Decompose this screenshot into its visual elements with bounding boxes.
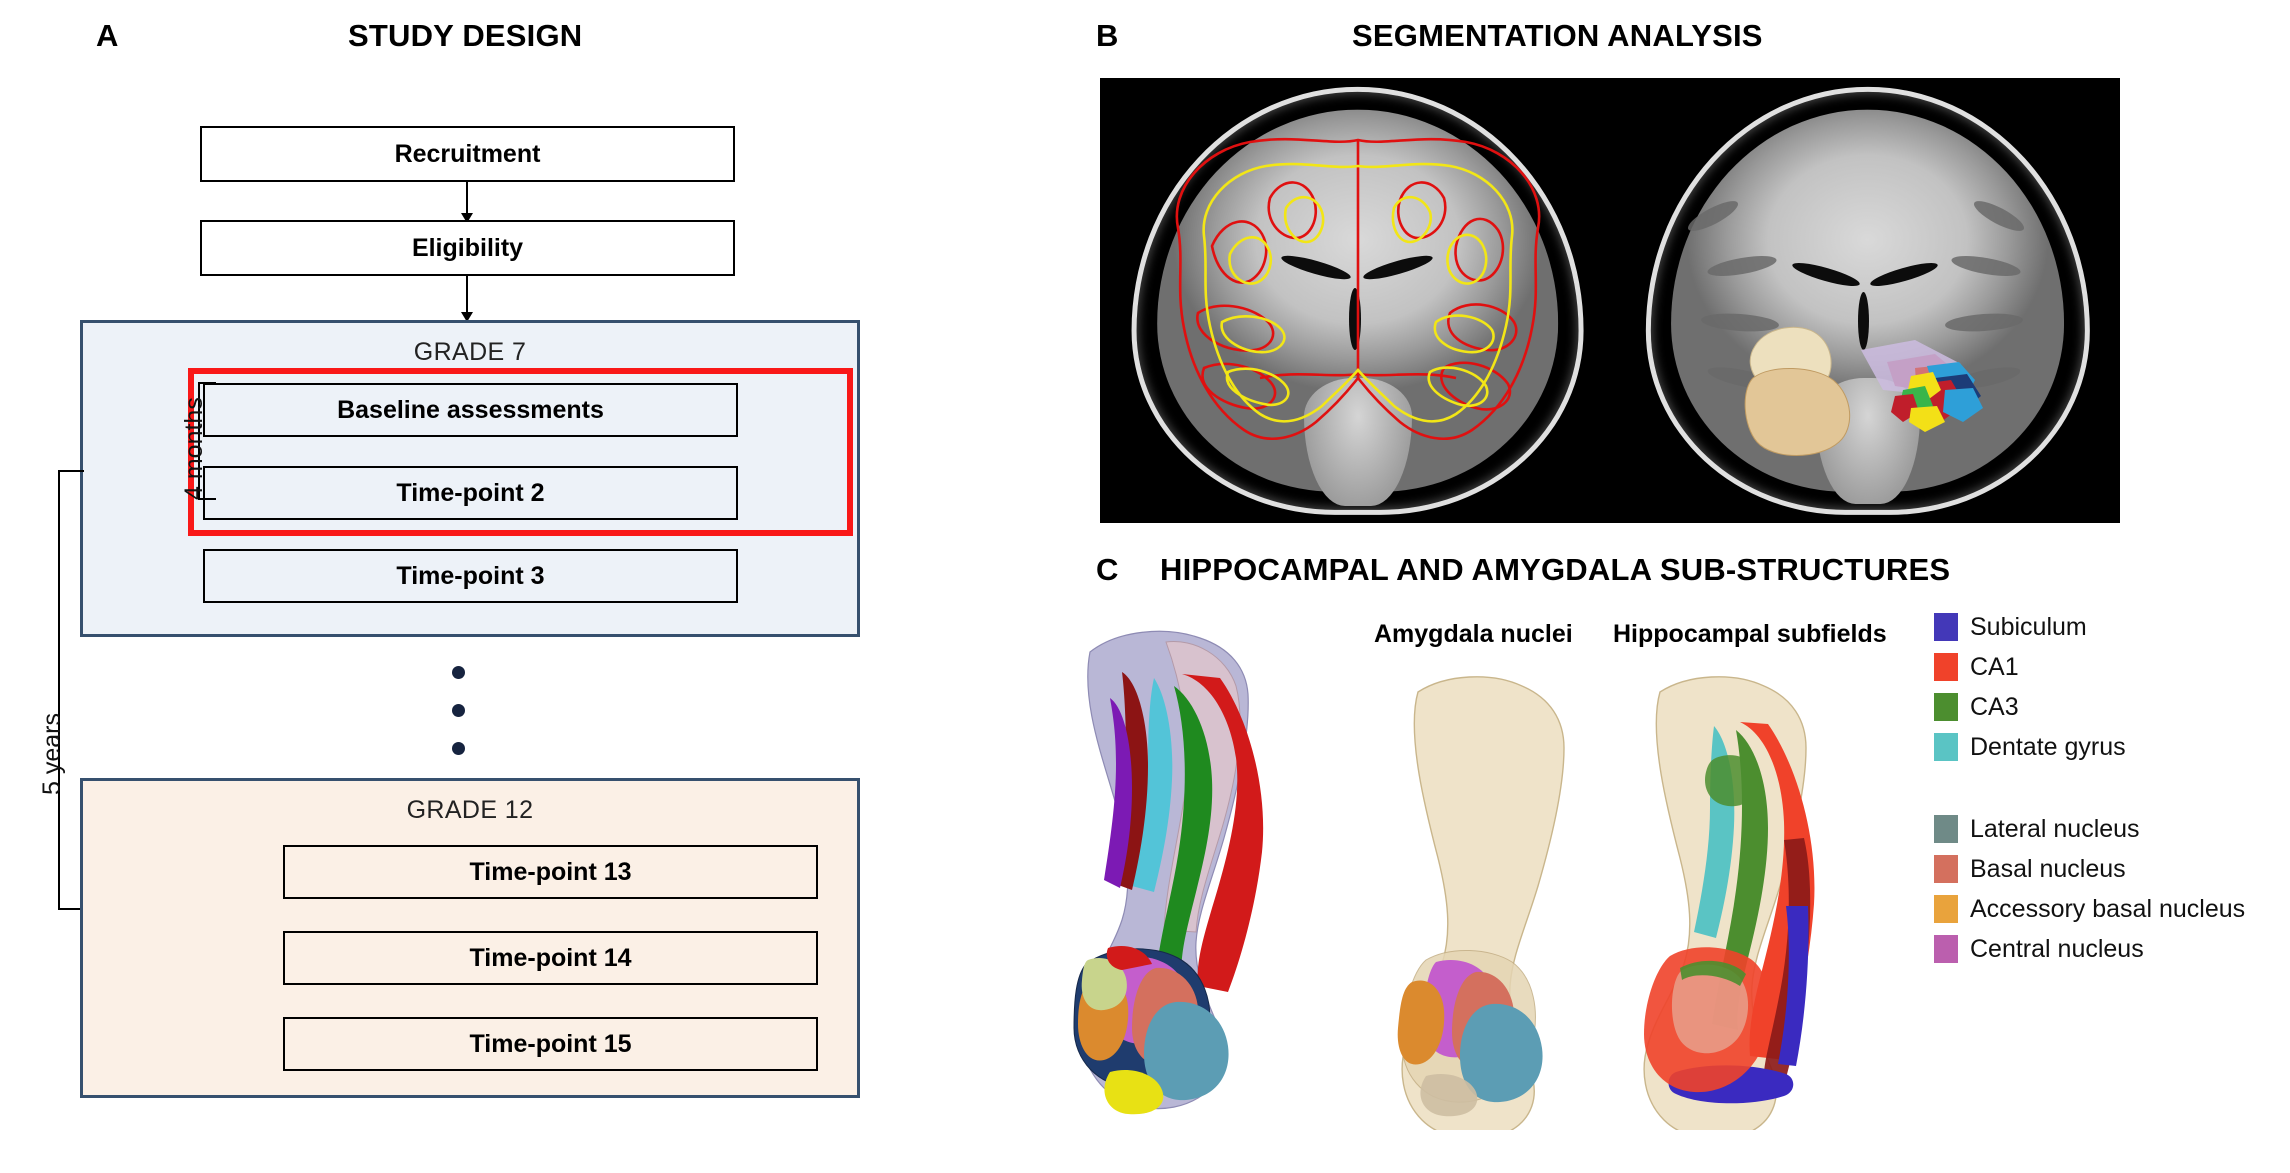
flow-box-time-point-13[interactable]: Time-point 13 (283, 845, 818, 899)
legend-item-accessory-basal-nucleus: Accessory basal nucleus (1934, 894, 2245, 924)
flow-box-time-point-3[interactable]: Time-point 3 (203, 549, 738, 603)
flow-box-time-point-15[interactable]: Time-point 15 (283, 1017, 818, 1071)
caption-amygdala-nuclei: Amygdala nuclei (1374, 620, 1573, 649)
legend-label-accessory-basal-nucleus: Accessory basal nucleus (1970, 895, 2245, 924)
mri-segmentation-images (1100, 78, 2120, 523)
ellipsis-dot (452, 704, 465, 717)
bracket-label-5-years: 5 years (38, 713, 67, 795)
legend-swatch-lateral-nucleus (1934, 815, 1958, 843)
substructure-legend: Subiculum CA1 CA3 Dentate gyrus Lateral … (1934, 608, 2290, 1038)
panel-c-letter: C (1096, 552, 1118, 588)
legend-label-dentate-gyrus: Dentate gyrus (1970, 733, 2126, 762)
legend-label-central-nucleus: Central nucleus (1970, 935, 2144, 964)
legend-label-subiculum: Subiculum (1970, 613, 2087, 642)
panel-c-title: HIPPOCAMPAL AND AMYGDALA SUB-STRUCTURES (1160, 552, 1950, 588)
panel-a-study-design: A STUDY DESIGN Recruitment Eligibility G… (0, 0, 900, 1173)
flow-box-eligibility[interactable]: Eligibility (200, 220, 735, 276)
hippocampus-surface-render-left (1745, 327, 1850, 455)
legend-label-basal-nucleus: Basal nucleus (1970, 855, 2126, 884)
grade-7-header: GRADE 7 (83, 338, 857, 367)
segmentation-overlay (1615, 78, 2120, 523)
grade-12-header: GRADE 12 (83, 796, 857, 825)
legend-item-ca1: CA1 (1934, 652, 2019, 682)
legend-swatch-ca3 (1934, 693, 1958, 721)
red-highlight-box (188, 368, 853, 536)
caption-hippocampal-subfields: Hippocampal subfields (1613, 620, 1887, 649)
ca3-tail-patch (1705, 755, 1758, 806)
panel-b-title: SEGMENTATION ANALYSIS (1352, 18, 1763, 54)
legend-item-subiculum: Subiculum (1934, 612, 2087, 642)
ellipsis-dot (452, 742, 465, 755)
legend-label-lateral-nucleus: Lateral nucleus (1970, 815, 2140, 844)
legend-swatch-central-nucleus (1934, 935, 1958, 963)
legend-item-ca3: CA3 (1934, 692, 2019, 722)
legend-swatch-dentate-gyrus (1934, 733, 1958, 761)
legend-label-ca1: CA1 (1970, 653, 2019, 682)
grade-12-group: GRADE 12 Time-point 13 Time-point 14 Tim… (80, 778, 860, 1098)
legend-item-basal-nucleus: Basal nucleus (1934, 854, 2126, 884)
mri-cortical-surface (1100, 78, 1615, 523)
amygdala-nuclei-render-right (1861, 340, 1983, 432)
legend-swatch-ca1 (1934, 653, 1958, 681)
legend-label-ca3: CA3 (1970, 693, 2019, 722)
render-amygdala-nuclei (1392, 660, 1642, 1130)
flow-box-recruitment[interactable]: Recruitment (200, 126, 735, 182)
legend-item-dentate-gyrus: Dentate gyrus (1934, 732, 2126, 762)
legend-swatch-accessory-basal-nucleus (1934, 895, 1958, 923)
surface-outline-overlay (1100, 78, 1615, 523)
bracket-label-4-months: 4 months (180, 397, 209, 500)
render-hippocampal-subfields (1636, 660, 1896, 1130)
flow-box-time-point-14[interactable]: Time-point 14 (283, 931, 818, 985)
legend-item-lateral-nucleus: Lateral nucleus (1934, 814, 2140, 844)
legend-swatch-basal-nucleus (1934, 855, 1958, 883)
pial-surface-outline-left (1177, 139, 1539, 439)
legend-swatch-subiculum (1934, 613, 1958, 641)
panel-a-letter: A (96, 18, 118, 54)
mri-subcortical-segmentation (1615, 78, 2120, 523)
render-all-substructures (1070, 612, 1370, 1132)
legend-item-central-nucleus: Central nucleus (1934, 934, 2144, 964)
ellipsis-dot (452, 666, 465, 679)
panel-a-title: STUDY DESIGN (348, 18, 582, 54)
panel-b-letter: B (1096, 18, 1118, 54)
